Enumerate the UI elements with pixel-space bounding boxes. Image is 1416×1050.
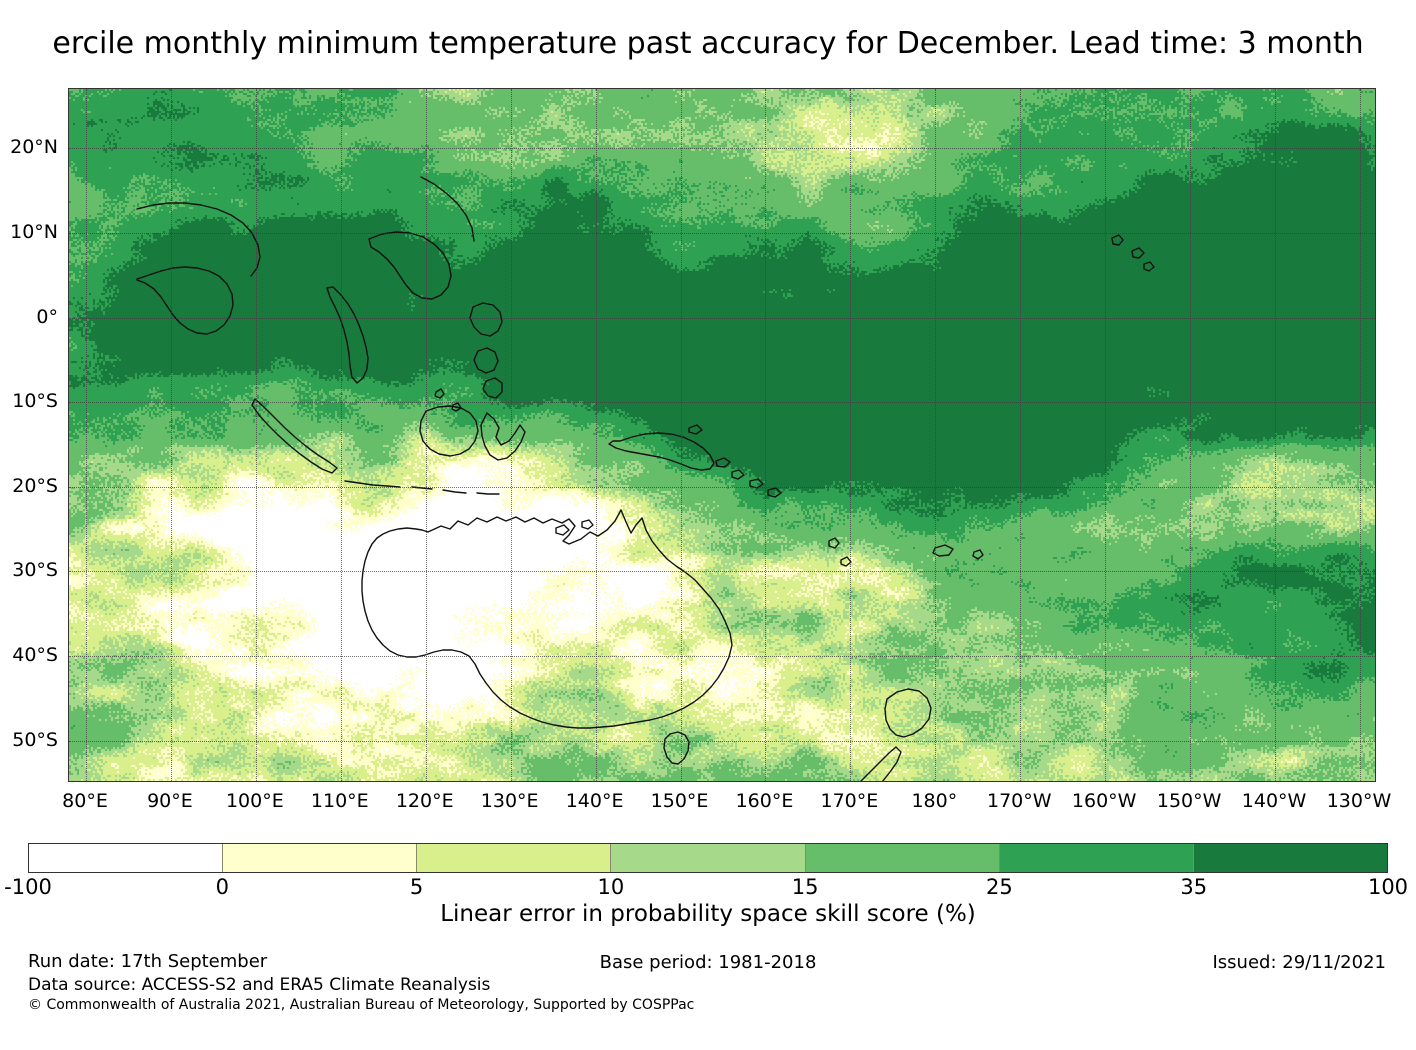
- colorbar-label: Linear error in probability space skill …: [440, 900, 976, 928]
- y-tick-label: 0°: [36, 306, 58, 328]
- x-tick-label: 160°E: [736, 790, 794, 812]
- y-tick-label: 50°S: [12, 729, 58, 751]
- data-source-text: Data source: ACCESS-S2 and ERA5 Climate …: [28, 974, 748, 996]
- y-tick-label: 10°S: [12, 390, 58, 412]
- colorbar-tick-label: -100: [4, 875, 52, 899]
- x-tick-label: 100°E: [226, 790, 284, 812]
- colorbar-segment: [29, 844, 222, 872]
- copyright-text: © Commonwealth of Australia 2021, Austra…: [28, 996, 748, 1015]
- x-tick-label: 140°W: [1242, 790, 1307, 812]
- colorbar: -1000510152535100: [28, 843, 1388, 873]
- colorbar-segment: [1193, 844, 1387, 872]
- x-tick-label: 180°: [911, 790, 957, 812]
- x-tick-label: 170°W: [987, 790, 1052, 812]
- colorbar-tick-label: 100: [1368, 875, 1408, 899]
- base-period-text: Base period: 1981-2018: [600, 951, 817, 975]
- x-tick-label: 110°E: [311, 790, 369, 812]
- y-tick-label: 40°S: [12, 644, 58, 666]
- y-tick-label: 10°N: [10, 221, 58, 243]
- x-tick-label: 80°E: [62, 790, 108, 812]
- x-tick-label: 120°E: [396, 790, 454, 812]
- coastline-overlay: [69, 89, 1376, 782]
- colorbar-tick-label: 5: [410, 875, 423, 899]
- colorbar-segment: [805, 844, 999, 872]
- y-tick-label: 20°S: [12, 475, 58, 497]
- map-plot-area: [68, 88, 1376, 782]
- colorbar-tick-label: 10: [597, 875, 624, 899]
- y-tick-label: 20°N: [10, 136, 58, 158]
- colorbar-segment: [222, 844, 416, 872]
- colorbar-segment: [610, 844, 804, 872]
- y-tick-label: 30°S: [12, 559, 58, 581]
- colorbar-segment: [999, 844, 1193, 872]
- x-tick-label: 170°E: [821, 790, 879, 812]
- x-tick-label: 160°W: [1072, 790, 1137, 812]
- colorbar-tick-label: 35: [1180, 875, 1207, 899]
- colorbar-tick-label: 0: [216, 875, 229, 899]
- x-tick-label: 150°E: [651, 790, 709, 812]
- issued-text: Issued: 29/11/2021: [1212, 951, 1386, 975]
- x-tick-label: 150°W: [1157, 790, 1222, 812]
- x-tick-label: 90°E: [147, 790, 193, 812]
- page-title: ercile monthly minimum temperature past …: [52, 22, 1363, 66]
- colorbar-tick-label: 15: [792, 875, 819, 899]
- x-tick-label: 140°E: [566, 790, 624, 812]
- colorbar-gradient: [28, 843, 1388, 873]
- colorbar-segment: [416, 844, 610, 872]
- x-tick-label: 130°E: [481, 790, 539, 812]
- x-tick-label: 130°W: [1327, 790, 1392, 812]
- colorbar-tick-label: 25: [986, 875, 1013, 899]
